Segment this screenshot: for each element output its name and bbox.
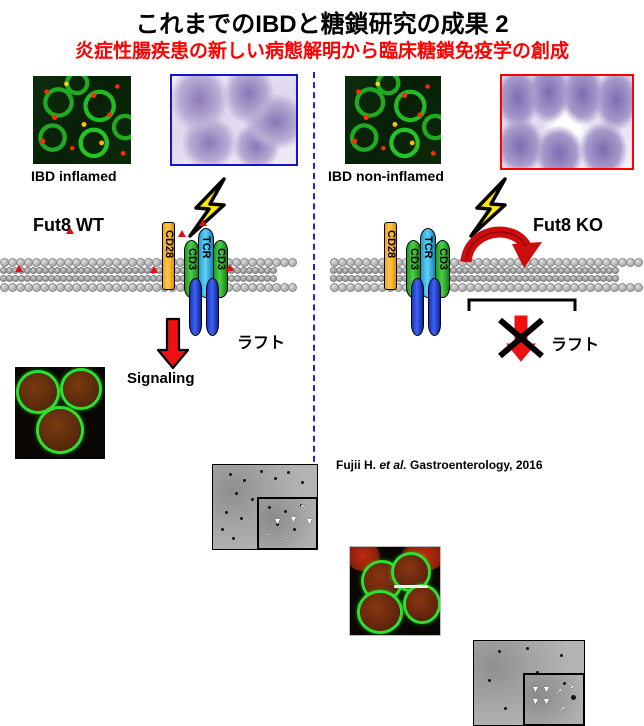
- membrane-bilayer-left: [0, 258, 300, 294]
- cell-if-image-wt: [15, 367, 105, 459]
- if-image-ibd-inflamed: [33, 76, 131, 164]
- cell-ko-3: [360, 593, 400, 631]
- em-arrow-marker: ↗: [555, 687, 563, 696]
- slide-root: これまでのIBDと糖鎖研究の成果 2 炎症性腸疾患の新しい病態解明から臨床糖鎖免…: [0, 0, 644, 483]
- receptor-complex-right: CD28 CD3 TCR CD3: [382, 218, 462, 348]
- he-image-non-inflamed: [500, 74, 634, 170]
- label-raft-right: ラフト: [551, 331, 599, 355]
- if-image-ibd-non-inflamed: [345, 76, 441, 164]
- cell-wt-2: [63, 371, 99, 407]
- zeta-chain-right-b: [428, 278, 441, 336]
- cd3-right-label-right: CD3: [437, 248, 449, 270]
- raft-bracket-right: [466, 297, 578, 313]
- glycan-triangle-left-2: [178, 230, 186, 237]
- cell-ko-4: [406, 587, 438, 621]
- glycan-triangle-left-4: [15, 265, 23, 272]
- em-triangle-marker: ▼: [289, 515, 298, 524]
- vertical-divider: [313, 72, 315, 472]
- page-title: これまでのIBDと糖鎖研究の成果 2: [0, 4, 644, 39]
- em-image-wt: ← ← ↑ ▼ ▼ ▼ ↖: [212, 464, 318, 550]
- cell-ko-2: [394, 555, 428, 589]
- label-raft-left: ラフト: [237, 329, 285, 353]
- em-arrow-marker: ←: [265, 529, 274, 538]
- label-ibd-non-inflamed: IBD non-inflamed: [328, 168, 444, 184]
- tcr-label-right: TCR: [422, 236, 434, 259]
- glycan-triangle-left-5: [150, 266, 158, 273]
- em-triangle-marker: ▼: [542, 685, 551, 694]
- citation-source: Gastroenterology, 2016: [407, 458, 543, 472]
- em-inset-ko: ▼ ▼ ▼ ▼ ↗ ↘ ↗: [523, 673, 585, 726]
- em-triangle-marker: ▼: [273, 517, 282, 526]
- em-triangle-marker: ▼: [531, 685, 540, 694]
- em-triangle-marker: ▼: [542, 697, 551, 706]
- zeta-chain-left-a: [189, 278, 202, 336]
- em-triangle-marker: ▼: [305, 517, 314, 526]
- cd3-left-label-left: CD3: [186, 248, 198, 270]
- cd3-left-label-right: CD3: [408, 248, 420, 270]
- citation-author: Fujii H.: [336, 458, 379, 472]
- em-arrow-marker: ↗: [558, 705, 566, 714]
- cell-wt-3: [39, 409, 81, 451]
- cd28-label-right: CD28: [385, 230, 397, 258]
- glycan-triangle-left-3: [199, 219, 207, 226]
- he-image-inflamed: [170, 74, 298, 166]
- scale-bar: [394, 585, 428, 588]
- cell-if-image-ko: [349, 546, 441, 636]
- cd28-label-left: CD28: [163, 230, 175, 258]
- glycan-triangle-left-1: [66, 227, 74, 234]
- page-subtitle: 炎症性腸疾患の新しい病態解明から臨床糖鎖免疫学の創成: [0, 36, 644, 63]
- em-image-ko: ▼ ▼ ▼ ▼ ↗ ↘ ↗: [473, 640, 585, 726]
- em-arrow-marker: ↑: [299, 531, 304, 540]
- zeta-chain-left-b: [206, 278, 219, 336]
- tcr-label-left: TCR: [200, 236, 212, 259]
- citation: Fujii H. et al. Gastroenterology, 2016: [336, 458, 543, 472]
- blocked-signaling-arrow-icon: [496, 314, 546, 364]
- glycan-triangle-left-6: [226, 264, 234, 271]
- em-arrow-marker: ←: [283, 532, 292, 541]
- label-ibd-inflamed: IBD inflamed: [31, 168, 117, 184]
- em-arrow-marker: ↖: [300, 503, 308, 512]
- em-inset-wt: ← ← ↑ ▼ ▼ ▼ ↖: [257, 497, 318, 550]
- em-arrow-marker: ↘: [567, 681, 575, 690]
- label-signaling: Signaling: [127, 370, 195, 387]
- label-fut8-ko: Fut8 KO: [533, 215, 603, 236]
- curved-arrow-right-icon: [460, 216, 542, 278]
- cell-wt-1: [19, 373, 57, 411]
- em-triangle-marker: ▼: [531, 697, 540, 706]
- zeta-chain-right-a: [411, 278, 424, 336]
- citation-etal: et al.: [379, 458, 406, 472]
- signaling-arrow-icon: [156, 318, 190, 370]
